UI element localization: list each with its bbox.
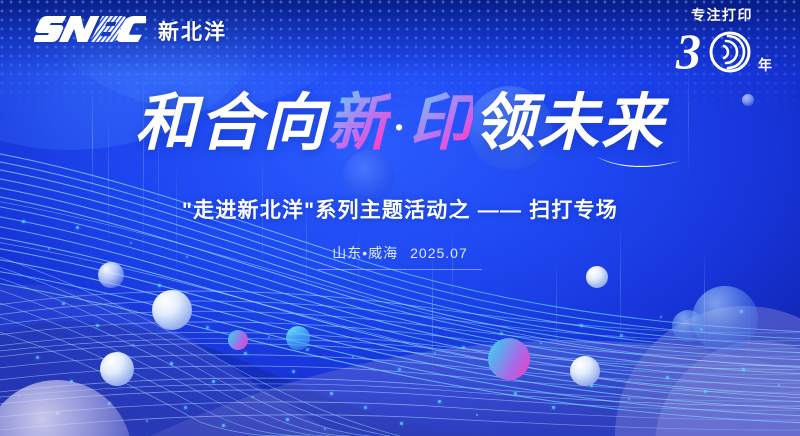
badge-unit: 年 xyxy=(758,58,772,72)
decorative-sphere-large-lavender xyxy=(0,380,132,436)
brand-logo[interactable]: 新北洋 xyxy=(34,13,227,52)
decorative-sphere-white-lower-left xyxy=(100,352,134,386)
decorative-sphere-magenta-large xyxy=(488,338,530,380)
event-subtitle: "走进新北洋"系列主题活动之 —— 扫打专场 xyxy=(0,198,800,223)
decorative-sphere-white-bottom-right xyxy=(570,356,600,386)
event-meta-container: 山东•威海2025.07 xyxy=(0,243,800,270)
badge-tagline: 专注打印 xyxy=(666,8,778,22)
headline-segment-3: 印 xyxy=(409,86,473,159)
headline-separator-dot: · xyxy=(391,108,409,148)
event-headline: 和合向新·印领未来 xyxy=(135,92,665,154)
decorative-sphere-white-left xyxy=(152,290,192,330)
wave-line-field xyxy=(0,136,800,436)
svg-text:3: 3 xyxy=(675,24,701,76)
brush-stroke-flourish xyxy=(596,154,682,170)
badge-number-row: 3 年 xyxy=(666,24,778,76)
snbc-wordmark-icon xyxy=(34,13,146,52)
decorative-sphere-cyan xyxy=(286,326,310,350)
event-meta: 山东•威海2025.07 xyxy=(318,243,482,270)
headline-container: 和合向新·印领未来 xyxy=(0,92,800,154)
decorative-sphere-glass-right xyxy=(692,286,758,352)
event-location: 山东•威海 xyxy=(332,245,398,261)
headline-segment-1: 和合向 xyxy=(135,86,327,159)
brand-name-cn: 新北洋 xyxy=(158,22,227,43)
event-date: 2025.07 xyxy=(410,245,468,261)
headline-segment-2: 新 xyxy=(327,86,391,159)
headline-segment-4: 领未来 xyxy=(473,86,665,159)
decorative-sphere-glass-small xyxy=(672,310,704,342)
anniversary-badge: 专注打印 3 年 xyxy=(666,8,778,84)
decorative-sphere-magenta-small xyxy=(228,330,248,350)
event-banner: 新北洋 专注打印 3 年 和合向新·印领未来 xyxy=(0,0,800,436)
